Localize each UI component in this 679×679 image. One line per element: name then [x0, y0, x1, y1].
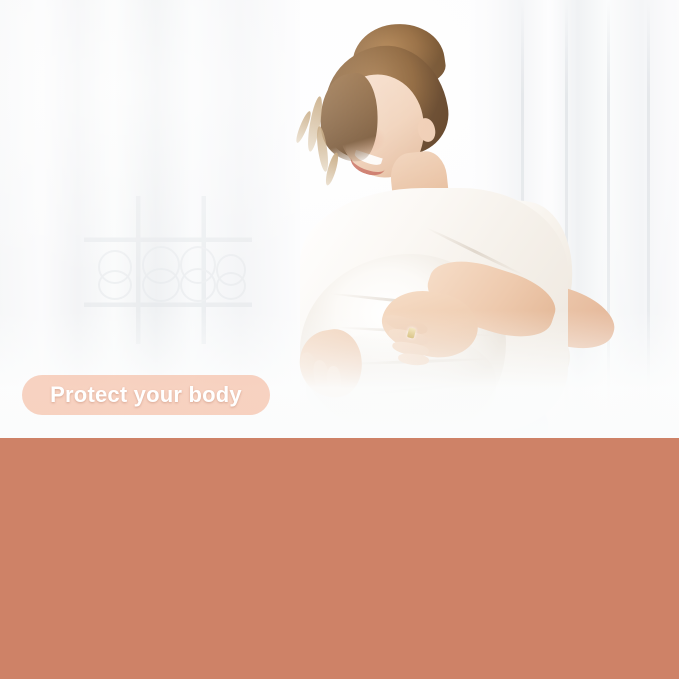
protect-your-body-badge: Protect your body: [22, 375, 270, 415]
product-infographic: Protect your body PROVIDES GENTLE COMPRE…: [0, 0, 679, 679]
hero-photo: [0, 0, 679, 440]
badge-label: Protect your body: [50, 382, 242, 408]
feature-banner: PROVIDES GENTLE COMPRESSION Provide warm…: [0, 438, 679, 679]
